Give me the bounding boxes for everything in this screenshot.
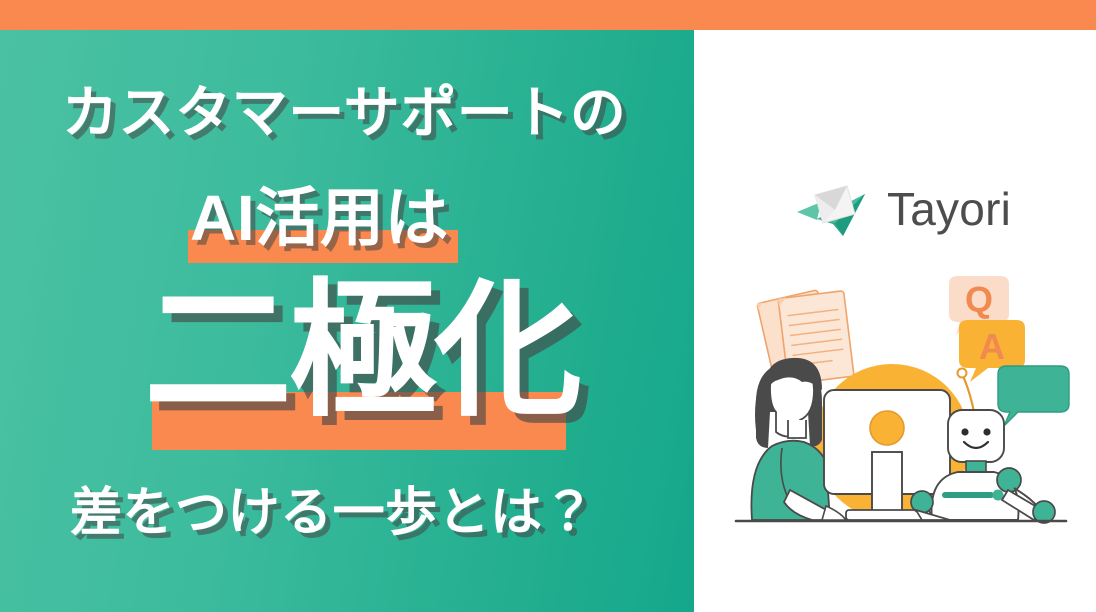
logo-wordmark: Tayori — [887, 186, 1011, 232]
headline-line-1: カスタマーサポートの — [62, 78, 626, 148]
headline-line-2: AI活用は — [190, 175, 449, 261]
q-bubble-label: Q — [965, 279, 993, 320]
headline-line-4: 差をつける一歩とは？ — [70, 480, 595, 546]
customer-support-ai-illustration: Q A — [726, 262, 1076, 542]
a-bubble-label: A — [979, 326, 1005, 367]
headline-block: カスタマーサポートの AI活用は 二極化 差をつける一歩とは？ — [0, 30, 694, 612]
green-speech-bubble — [998, 366, 1069, 426]
headline-line-3: 二極化 — [144, 268, 579, 436]
headline-line-2-wrapper: AI活用は — [186, 175, 445, 265]
banner-root: カスタマーサポートの AI活用は 二極化 差をつける一歩とは？ — [0, 0, 1096, 612]
headline-line-3-wrapper: 二極化 — [150, 268, 585, 458]
top-accent-bar — [0, 0, 1096, 30]
tayori-logo: Tayori — [795, 178, 1011, 240]
envelope-paper-plane-icon — [795, 178, 871, 240]
